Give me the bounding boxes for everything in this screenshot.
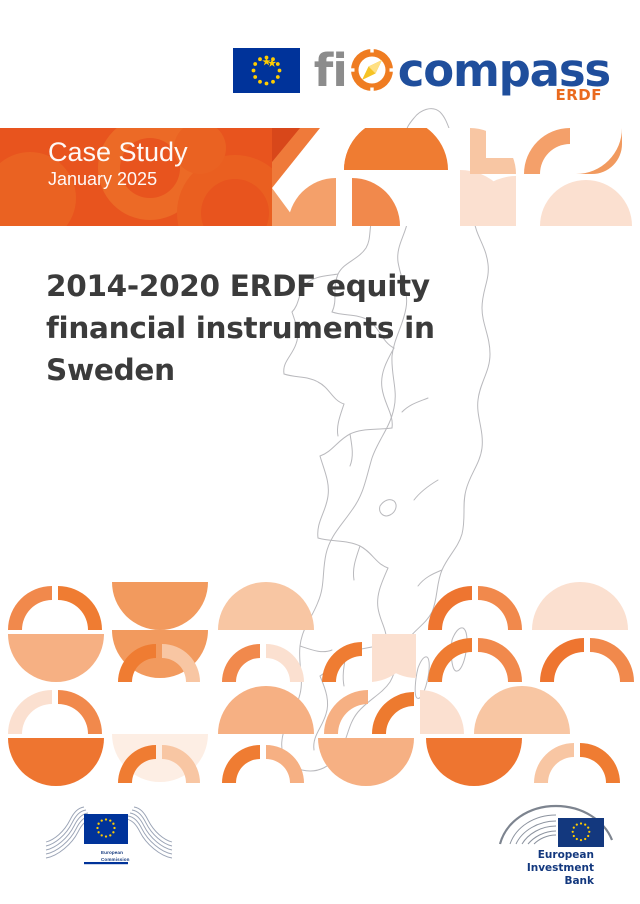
bottom-decorative-pattern — [0, 578, 640, 788]
page-title: 2014-2020 ERDF equity financial instrume… — [46, 266, 476, 392]
compass-icon — [349, 47, 395, 93]
document-kind-label: Case Study — [48, 138, 188, 166]
european-commission-logo: European Commission — [44, 802, 174, 868]
fi-compass-logo[interactable]: fi compass — [233, 42, 610, 98]
logo-erdf-text: ERDF — [556, 86, 603, 104]
ec-caption: European Commission — [101, 850, 130, 864]
european-investment-bank-logo: European Investment Bank — [496, 800, 616, 870]
ec-caption-line2: Commission — [101, 857, 130, 864]
logo-fi-text: fi — [314, 48, 347, 93]
eib-caption: European Investment Bank — [496, 849, 594, 887]
document-date-label: January 2025 — [48, 168, 188, 191]
band-caption: Case Study January 2025 — [48, 138, 188, 192]
ec-caption-line1: European — [101, 850, 130, 857]
cover-page: fi compass ER — [0, 0, 640, 904]
eib-caption-line1: European — [496, 849, 594, 862]
footer-logos: European Commission — [0, 790, 640, 904]
eib-caption-line2: Investment Bank — [496, 862, 594, 888]
brand-header: fi compass ER — [0, 0, 640, 128]
eu-flag-icon — [233, 48, 300, 93]
